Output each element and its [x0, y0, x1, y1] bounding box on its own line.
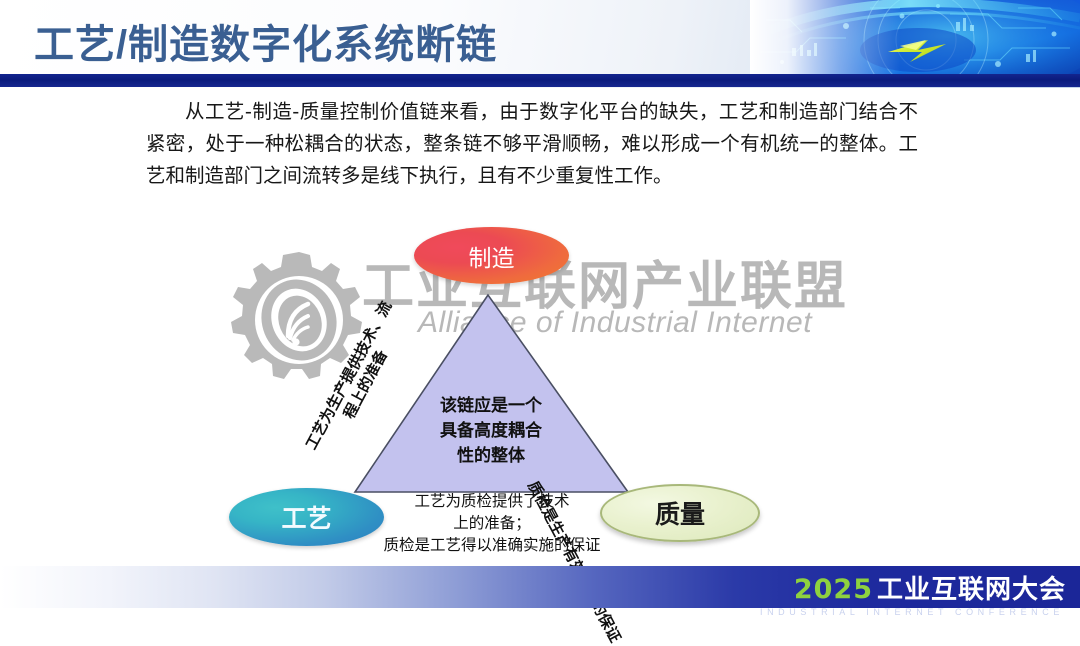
header-divider-rule [0, 74, 1080, 87]
bottom-label-line-2: 上的准备； [453, 514, 531, 532]
body-paragraph: 从工艺-制造-质量控制价值链来看，由于数字化平台的缺失，工艺和制造部门结合不紧密… [146, 96, 918, 192]
slide-footer: 2025 工业互联网大会 INDUSTRIAL INTERNET CONFERE… [0, 566, 1080, 608]
node-process[interactable]: 工艺 [229, 488, 384, 546]
triangle-center-text: 该链应是一个具备高度耦合性的整体 [411, 394, 571, 469]
node-quality[interactable]: 质量 [600, 484, 760, 542]
conference-name-en: INDUSTRIAL INTERNET CONFERENCE [760, 607, 1066, 617]
triangle-bottom-label: 工艺为质检提供了技术 上的准备； 质检是工艺得以准确实施的保证 [352, 490, 632, 556]
page-title: 工艺/制造数字化系统断链 [34, 12, 497, 70]
conference-logo: 2025 工业互联网大会 INDUSTRIAL INTERNET CONFERE… [760, 569, 1066, 617]
value-chain-triangle-diagram: 工业互联网产业联盟 Alliance of Industrial Interne… [0, 196, 1080, 568]
conference-year: 2025 [794, 574, 873, 605]
node-manufacturing[interactable]: 制造 [414, 227, 569, 284]
tech-network-banner-graphic [750, 0, 1080, 76]
slide-header: 工艺/制造数字化系统断链 [0, 0, 1080, 88]
conference-name-cn: 工业互联网大会 [877, 569, 1066, 606]
